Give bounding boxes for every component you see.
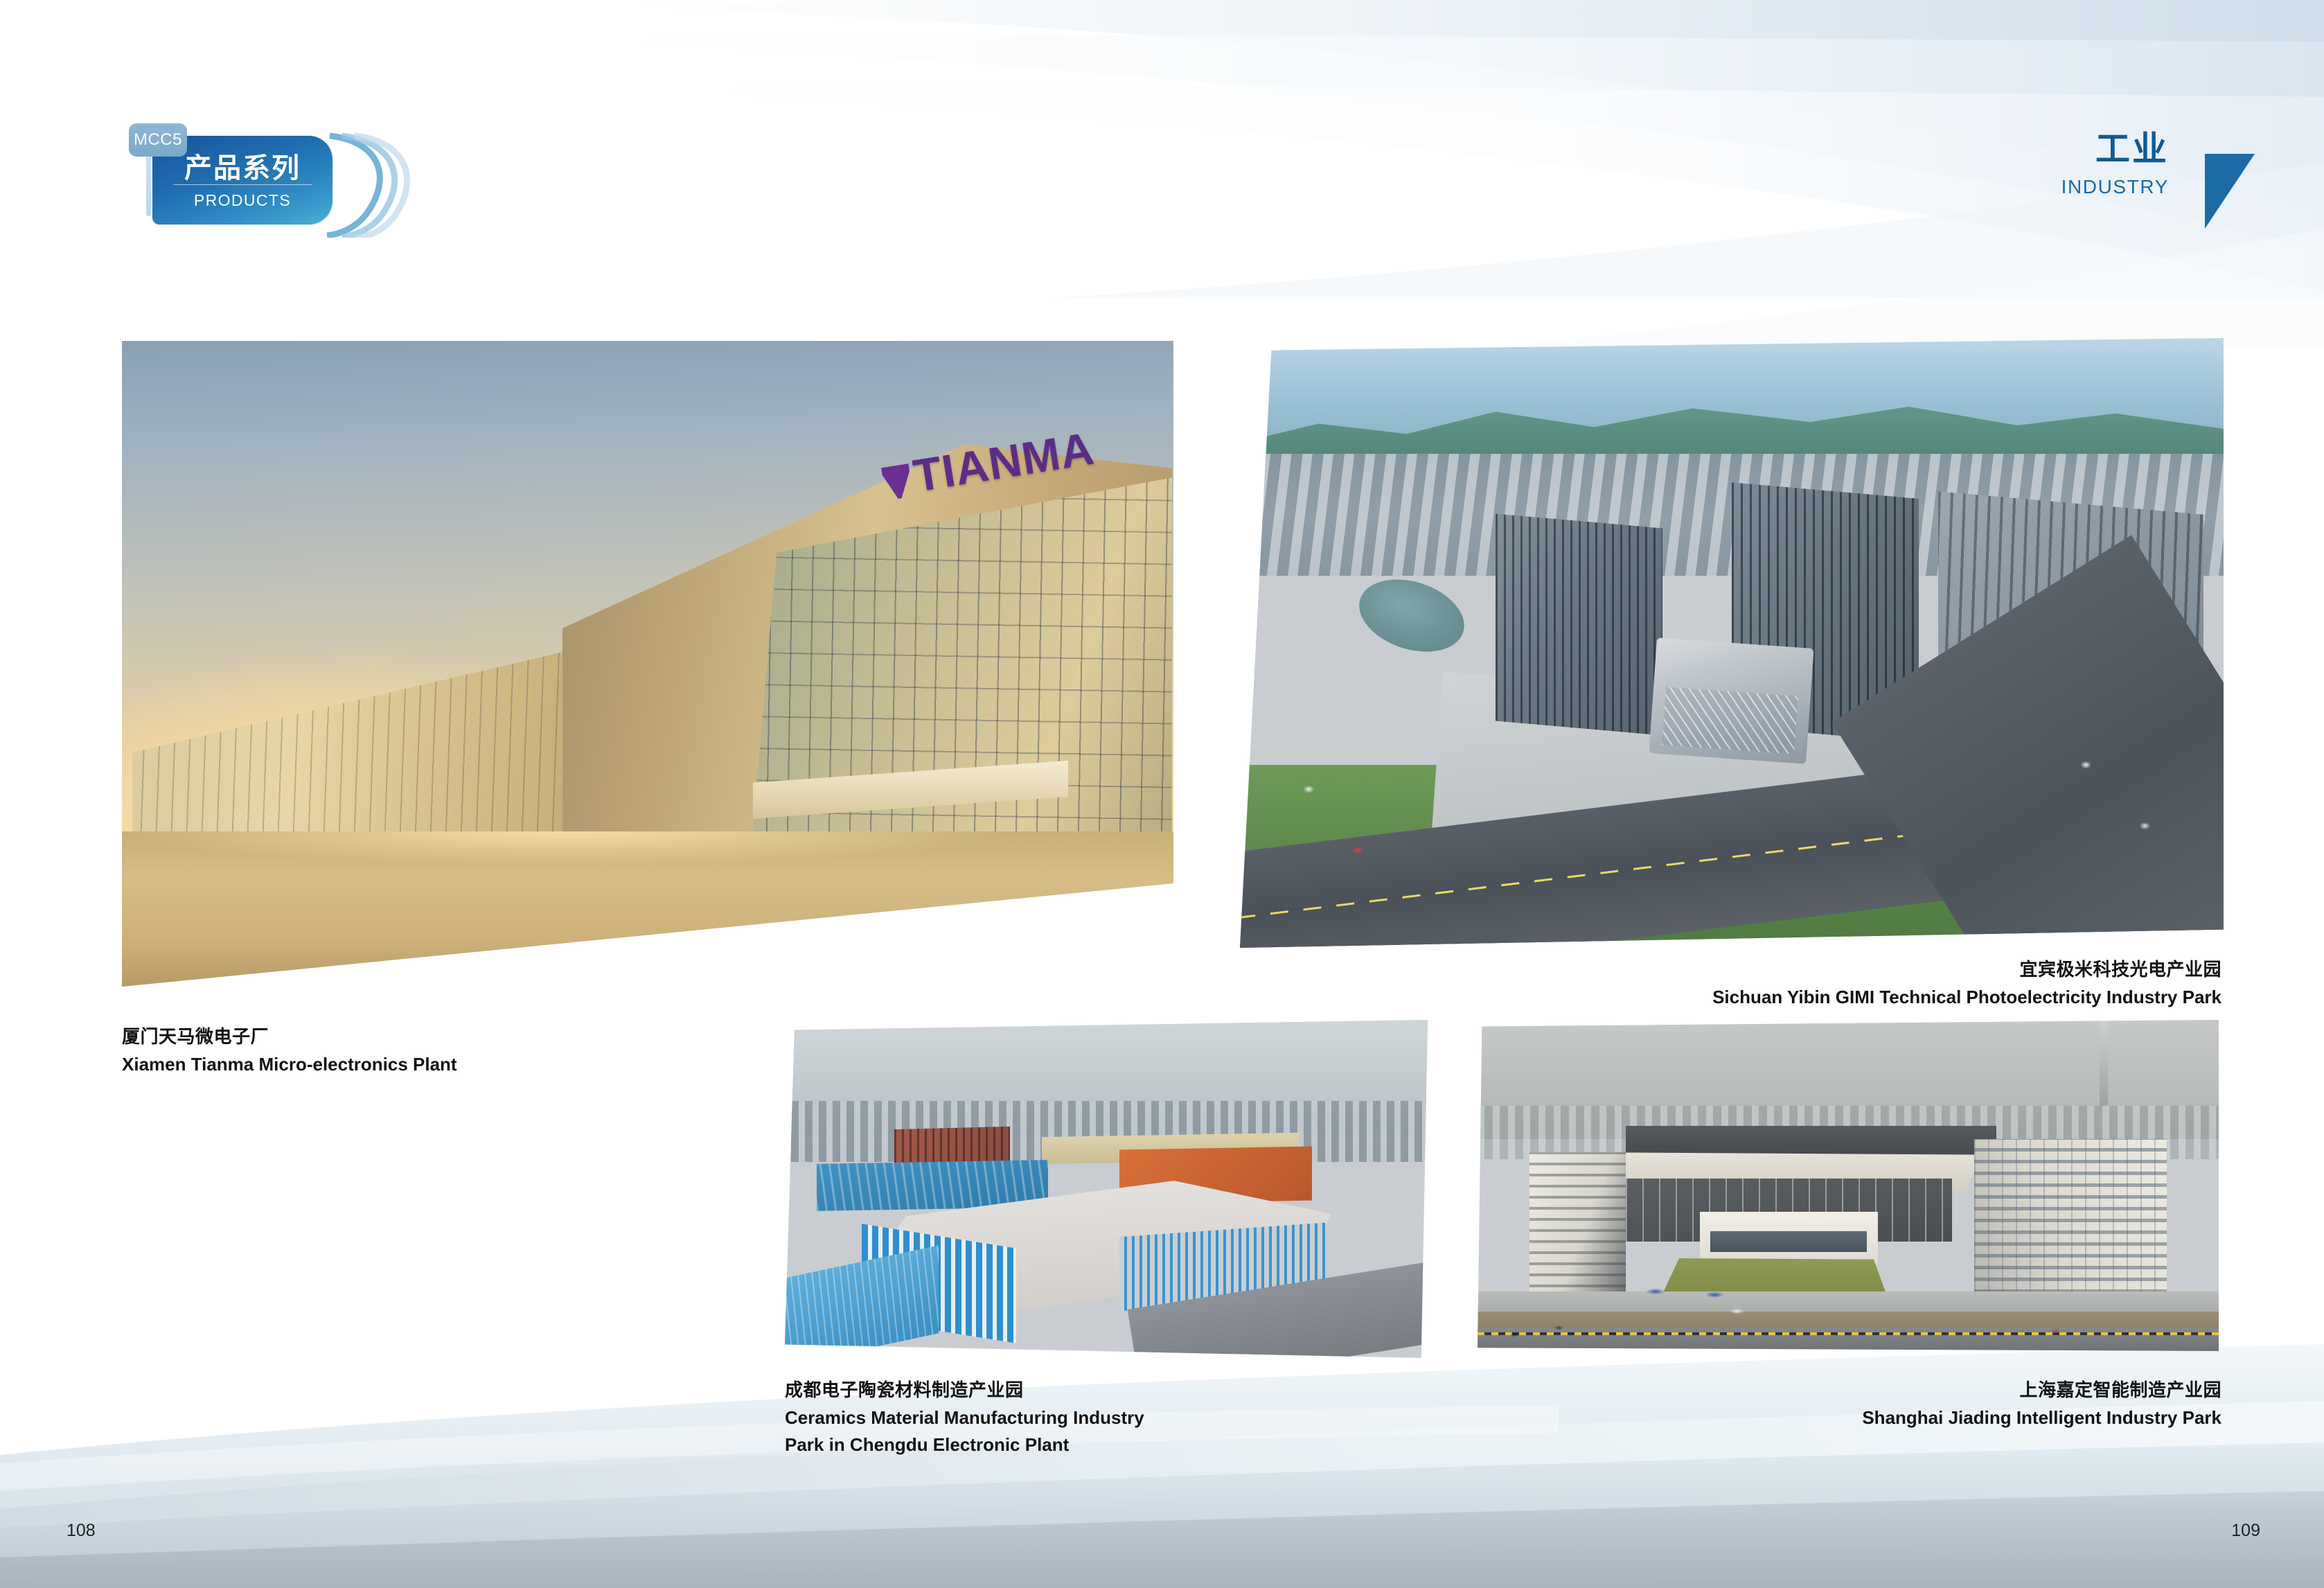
caption-en-line1: Ceramics Material Manufacturing Industry bbox=[785, 1404, 1144, 1431]
caption-cn: 成都电子陶瓷材料制造产业园 bbox=[785, 1377, 1144, 1404]
caption-en: Sichuan Yibin GIMI Technical Photoelectr… bbox=[1712, 984, 2221, 1011]
page-number-right: 109 bbox=[2231, 1521, 2260, 1541]
photo-chengdu-ceramics bbox=[785, 1020, 1428, 1358]
products-badge: 产品系列 PRODUCTS MCC5 bbox=[122, 123, 420, 238]
page-number-left: 108 bbox=[66, 1521, 96, 1541]
caption-cn: 厦门天马微电子厂 bbox=[122, 1024, 457, 1051]
caption-xiamen-tianma: 厦门天马微电子厂 Xiamen Tianma Micro-electronics… bbox=[122, 1024, 457, 1078]
section-title-en: INDUSTRY bbox=[2061, 176, 2169, 198]
badge-divider bbox=[173, 184, 312, 185]
caption-en: Shanghai Jiading Intelligent Industry Pa… bbox=[1862, 1404, 2221, 1431]
caption-cn: 宜宾极米科技光电产业园 bbox=[1712, 957, 2221, 984]
photo-shanghai-jiading bbox=[1478, 1020, 2219, 1351]
photo-foreground-blue-roof bbox=[785, 1246, 939, 1358]
caption-shanghai-jiading: 上海嘉定智能制造产业园 Shanghai Jiading Intelligent… bbox=[1862, 1377, 2221, 1431]
badge-tab-mcc5: MCC5 bbox=[129, 123, 187, 157]
caption-chengdu-ceramics: 成都电子陶瓷材料制造产业园 Ceramics Material Manufact… bbox=[785, 1377, 1144, 1458]
tianma-logo-mark bbox=[880, 464, 913, 501]
photo-vehicles bbox=[1478, 1020, 2219, 1351]
photo-sichuan-yibin-gimi bbox=[1240, 338, 2224, 948]
photo-plaza-ground bbox=[122, 831, 1173, 987]
triangle-icon bbox=[2205, 154, 2255, 229]
section-label-industry: 工业 INDUSTRY bbox=[2061, 132, 2169, 198]
caption-cn: 上海嘉定智能制造产业园 bbox=[1862, 1377, 2221, 1404]
caption-en: Xiamen Tianma Micro-electronics Plant bbox=[122, 1051, 457, 1078]
caption-sichuan-yibin-gimi: 宜宾极米科技光电产业园 Sichuan Yibin GIMI Technical… bbox=[1712, 957, 2221, 1011]
photo-vehicles bbox=[1240, 338, 2224, 948]
section-title-cn: 工业 bbox=[2061, 132, 2169, 166]
caption-en-line2: Park in Chengdu Electronic Plant bbox=[785, 1431, 1144, 1458]
photo-xiamen-tianma: TIANMA bbox=[122, 341, 1173, 987]
badge-title-en: PRODUCTS bbox=[152, 191, 332, 210]
